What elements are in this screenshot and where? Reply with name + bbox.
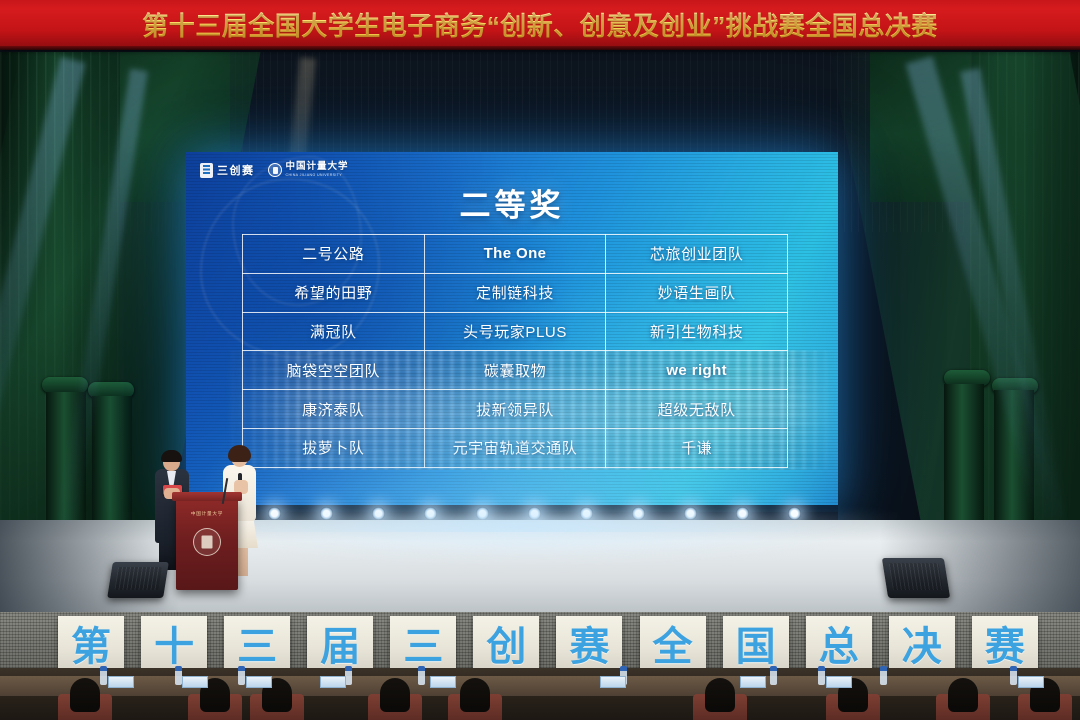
table-cell: 妙语生画队 <box>606 273 788 312</box>
name-card <box>826 676 852 688</box>
banner-bottom-edge <box>0 46 1080 50</box>
water-bottle <box>238 666 245 685</box>
led-display-screen: 三创赛 中国计量大学 CHINA JILIANG UNIVERSITY 二等奖 … <box>186 152 838 512</box>
logo-university-label: 中国计量大学 <box>286 162 349 172</box>
table-cell: we right <box>606 351 788 390</box>
stage-monitor-speaker <box>107 562 169 598</box>
table-cell: 满冠队 <box>243 312 425 351</box>
table-cell: 拔新领异队 <box>424 390 606 429</box>
award-title: 二等奖 <box>186 180 838 225</box>
audience-head <box>705 678 735 712</box>
apron-sign-character: 决 <box>889 616 955 670</box>
apron-sign-character: 三 <box>390 616 456 670</box>
apron-sign-character: 三 <box>224 616 290 670</box>
table-cell: 拔萝卜队 <box>243 428 425 467</box>
water-bottle <box>770 666 777 685</box>
name-card <box>320 676 346 688</box>
table-cell: 新引生物科技 <box>606 312 788 351</box>
water-bottle <box>1010 666 1017 685</box>
table-cell: 元宇宙轨道交通队 <box>424 428 606 467</box>
table-cell: 超级无敌队 <box>606 390 788 429</box>
table-cell: 定制链科技 <box>424 273 606 312</box>
apron-sign-character: 届 <box>307 616 373 670</box>
speaker-grille <box>114 567 162 590</box>
table-row: 希望的田野 定制链科技 妙语生画队 <box>243 273 788 312</box>
table-row: 二号公路 The One 芯旅创业团队 <box>243 235 788 274</box>
table-cell: 芯旅创业团队 <box>606 235 788 274</box>
apron-sign-character: 创 <box>473 616 539 670</box>
curtain-tieback <box>42 377 88 393</box>
apron-sign-character: 赛 <box>556 616 622 670</box>
name-card <box>740 676 766 688</box>
water-bottle <box>418 666 425 685</box>
audience-head <box>460 678 490 712</box>
logo-university-text: 中国计量大学 CHINA JILIANG UNIVERSITY <box>286 162 349 177</box>
logo-university-subtitle: CHINA JILIANG UNIVERSITY <box>286 174 349 178</box>
stage-monitor-speaker <box>882 558 950 598</box>
table-cell: 希望的田野 <box>243 273 425 312</box>
water-bottle <box>100 666 107 685</box>
name-card <box>430 676 456 688</box>
name-card <box>600 676 626 688</box>
apron-sign-character: 赛 <box>972 616 1038 670</box>
table-cell: 碳囊取物 <box>424 351 606 390</box>
name-card <box>1018 676 1044 688</box>
water-bottle <box>345 666 352 685</box>
apron-sign-character: 总 <box>806 616 872 670</box>
logo-sanchuangsai-label: 三创赛 <box>217 162 255 178</box>
podium-label: 中国计量大学 <box>176 511 238 517</box>
table-cell: 二号公路 <box>243 235 425 274</box>
apron-sign: 第十三届三创赛全国总决赛 <box>58 616 1038 670</box>
seal-icon <box>268 163 282 177</box>
name-card <box>246 676 272 688</box>
name-card <box>182 676 208 688</box>
table-cell: 康济泰队 <box>243 390 425 429</box>
water-bottle <box>880 666 887 685</box>
event-banner: 第十三届全国大学生电子商务“创新、创意及创业”挑战赛全国总决赛 <box>0 0 1080 49</box>
university-seal-icon <box>193 528 221 556</box>
audience-head <box>948 678 978 712</box>
audience-head <box>380 678 410 712</box>
table-cell: The One <box>424 235 606 274</box>
table-row: 脑袋空空团队 碳囊取物 we right <box>243 351 788 390</box>
speaker-grille <box>889 563 943 590</box>
apron-sign-character: 十 <box>141 616 207 670</box>
stage-photograph: 第十三届全国大学生电子商务“创新、创意及创业”挑战赛全国总决赛 <box>0 0 1080 720</box>
table-row: 满冠队 头号玩家PLUS 新引生物科技 <box>243 312 788 351</box>
name-card <box>108 676 134 688</box>
stage-floor-glow <box>150 516 910 564</box>
water-bottle <box>175 666 182 685</box>
podium-top-surface <box>172 492 242 501</box>
document-icon <box>200 163 213 178</box>
table-row: 康济泰队 拔新领异队 超级无敌队 <box>243 390 788 429</box>
apron-sign-character: 国 <box>723 616 789 670</box>
table-cell: 头号玩家PLUS <box>424 312 606 351</box>
host-hair <box>161 450 182 462</box>
audience-head <box>70 678 100 712</box>
screen-logo-row: 三创赛 中国计量大学 CHINA JILIANG UNIVERSITY <box>200 162 349 178</box>
host-hair <box>228 445 251 462</box>
banner-title: 第十三届全国大学生电子商务“创新、创意及创业”挑战赛全国总决赛 <box>142 6 938 43</box>
table-cell: 千谦 <box>606 428 788 467</box>
award-winners-table: 二号公路 The One 芯旅创业团队 希望的田野 定制链科技 妙语生画队 满冠… <box>242 234 788 468</box>
water-bottle <box>818 666 825 685</box>
logo-sanchuangsai: 三创赛 <box>200 162 255 178</box>
table-cell: 脑袋空空团队 <box>243 351 425 390</box>
apron-sign-character: 全 <box>640 616 706 670</box>
logo-university: 中国计量大学 CHINA JILIANG UNIVERSITY <box>268 162 349 177</box>
judges-table <box>0 676 1080 696</box>
speaker-podium: 中国计量大学 <box>176 498 238 590</box>
table-row: 拔萝卜队 元宇宙轨道交通队 千谦 <box>243 428 788 467</box>
apron-sign-character: 第 <box>58 616 124 670</box>
